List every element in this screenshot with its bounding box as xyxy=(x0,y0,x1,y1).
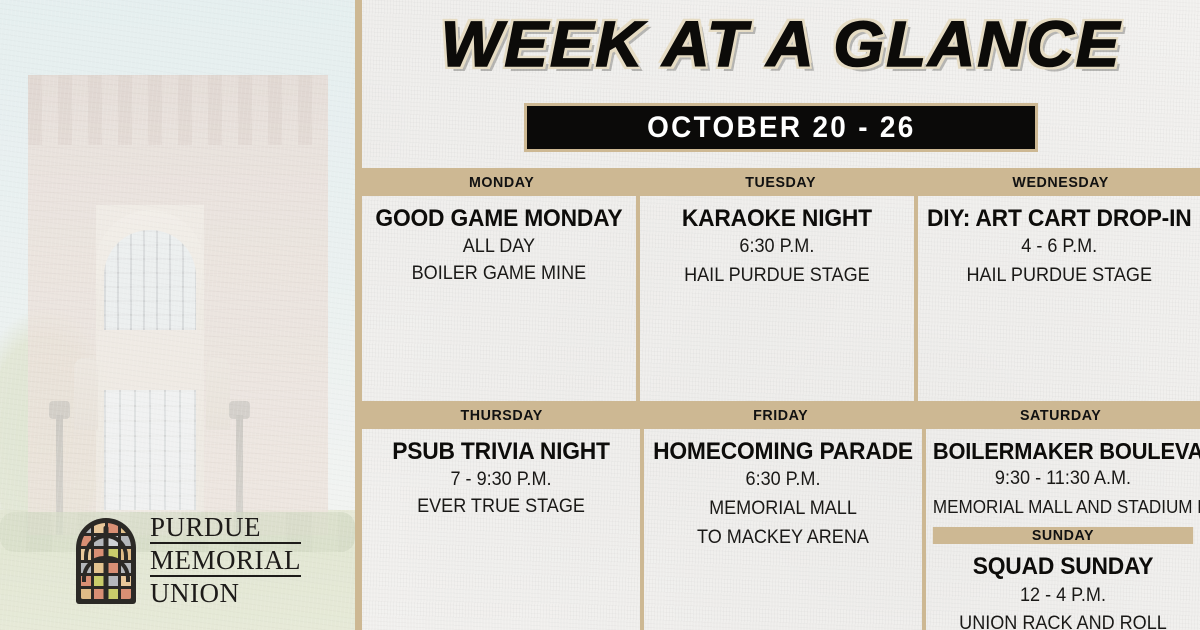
day-header-saturday: SATURDAY xyxy=(928,401,1193,429)
event-title: SQUAD SUNDAY xyxy=(933,554,1193,579)
logo-line-memorial: MEMORIAL xyxy=(150,547,301,577)
logo-line-union: UNION xyxy=(150,580,301,608)
vertical-gold-divider xyxy=(355,0,362,630)
day-columns-row1: GOOD GAME MONDAY ALL DAY BOILER GAME MIN… xyxy=(362,196,1200,401)
logo-wordmark: PURDUE MEMORIAL UNION xyxy=(150,514,301,608)
event-time: 6:30 P.M. xyxy=(653,467,913,493)
day-column-saturday-sunday: BOILERMAKER BOULEVARD 9:30 - 11:30 A.M. … xyxy=(922,429,1200,630)
sunday-event-block: SQUAD SUNDAY 12 - 4 P.M. UNION RACK AND … xyxy=(926,544,1200,630)
calendar-row-1: MONDAY TUESDAY WEDNESDAY GOOD GAME MONDA… xyxy=(362,168,1200,401)
event-location-secondary: TO MACKEY ARENA xyxy=(653,525,913,551)
date-range-text: OCTOBER 20 - 26 xyxy=(647,111,915,145)
day-header-monday: MONDAY xyxy=(369,168,634,196)
glass-trunk xyxy=(104,526,109,600)
saturday-event-block: BOILERMAKER BOULEVARD 9:30 - 11:30 A.M. … xyxy=(926,429,1200,523)
event-title: KARAOKE NIGHT xyxy=(649,206,905,231)
day-column-tuesday: KARAOKE NIGHT 6:30 P.M. HAIL PURDUE STAG… xyxy=(636,196,914,401)
day-column-monday: GOOD GAME MONDAY ALL DAY BOILER GAME MIN… xyxy=(362,196,636,401)
poster-content: WEEK AT A GLANCE OCTOBER 20 - 26 MONDAY … xyxy=(362,0,1200,630)
day-column-friday: HOMECOMING PARADE 6:30 P.M. MEMORIAL MAL… xyxy=(640,429,922,630)
event-time: 6:30 P.M. xyxy=(649,234,905,260)
day-header-sunday: SUNDAY xyxy=(933,527,1193,544)
stained-glass-window-icon xyxy=(76,518,136,604)
event-location: MEMORIAL MALL AND STADIUM MALL xyxy=(933,495,1193,519)
day-header-bar-row1: MONDAY TUESDAY WEDNESDAY xyxy=(362,168,1200,196)
event-title: DIY: ART CART DROP-IN xyxy=(927,206,1192,231)
day-columns-row2: PSUB TRIVIA NIGHT 7 - 9:30 P.M. EVER TRU… xyxy=(362,429,1200,630)
event-location: BOILER GAME MINE xyxy=(371,261,627,287)
day-column-wednesday: DIY: ART CART DROP-IN 4 - 6 P.M. HAIL PU… xyxy=(914,196,1200,401)
day-header-bar-row2: THURSDAY FRIDAY SATURDAY xyxy=(362,401,1200,429)
event-title: HOMECOMING PARADE xyxy=(653,439,913,464)
weekly-calendar: MONDAY TUESDAY WEDNESDAY GOOD GAME MONDA… xyxy=(362,168,1200,630)
event-title: GOOD GAME MONDAY xyxy=(371,206,627,231)
event-location: HAIL PURDUE STAGE xyxy=(649,263,905,289)
event-time: 12 - 4 P.M. xyxy=(933,583,1193,609)
event-location: HAIL PURDUE STAGE xyxy=(927,263,1192,289)
event-location: MEMORIAL MALL xyxy=(653,496,913,522)
page-title-text: WEEK AT A GLANCE xyxy=(441,8,1122,80)
event-time: ALL DAY xyxy=(371,234,627,260)
event-time: 9:30 - 11:30 A.M. xyxy=(933,466,1193,492)
purdue-memorial-union-logo: PURDUE MEMORIAL UNION xyxy=(76,514,301,608)
page-title: WEEK AT A GLANCE xyxy=(354,12,1200,76)
logo-line-purdue: PURDUE xyxy=(150,514,301,544)
day-header-thursday: THURSDAY xyxy=(369,401,634,429)
event-title: BOILERMAKER BOULEVARD xyxy=(933,439,1193,463)
date-range-banner: OCTOBER 20 - 26 xyxy=(524,103,1038,152)
day-header-friday: FRIDAY xyxy=(648,401,913,429)
day-header-tuesday: TUESDAY xyxy=(648,168,913,196)
event-title: PSUB TRIVIA NIGHT xyxy=(371,439,631,464)
day-header-wednesday: WEDNESDAY xyxy=(928,168,1193,196)
day-column-thursday: PSUB TRIVIA NIGHT 7 - 9:30 P.M. EVER TRU… xyxy=(362,429,640,630)
event-time: 7 - 9:30 P.M. xyxy=(371,467,631,493)
event-location: EVER TRUE STAGE xyxy=(371,494,631,520)
event-time: 4 - 6 P.M. xyxy=(927,234,1192,260)
event-location: UNION RACK AND ROLL xyxy=(933,611,1193,630)
calendar-row-2: THURSDAY FRIDAY SATURDAY PSUB TRIVIA NIG… xyxy=(362,401,1200,630)
